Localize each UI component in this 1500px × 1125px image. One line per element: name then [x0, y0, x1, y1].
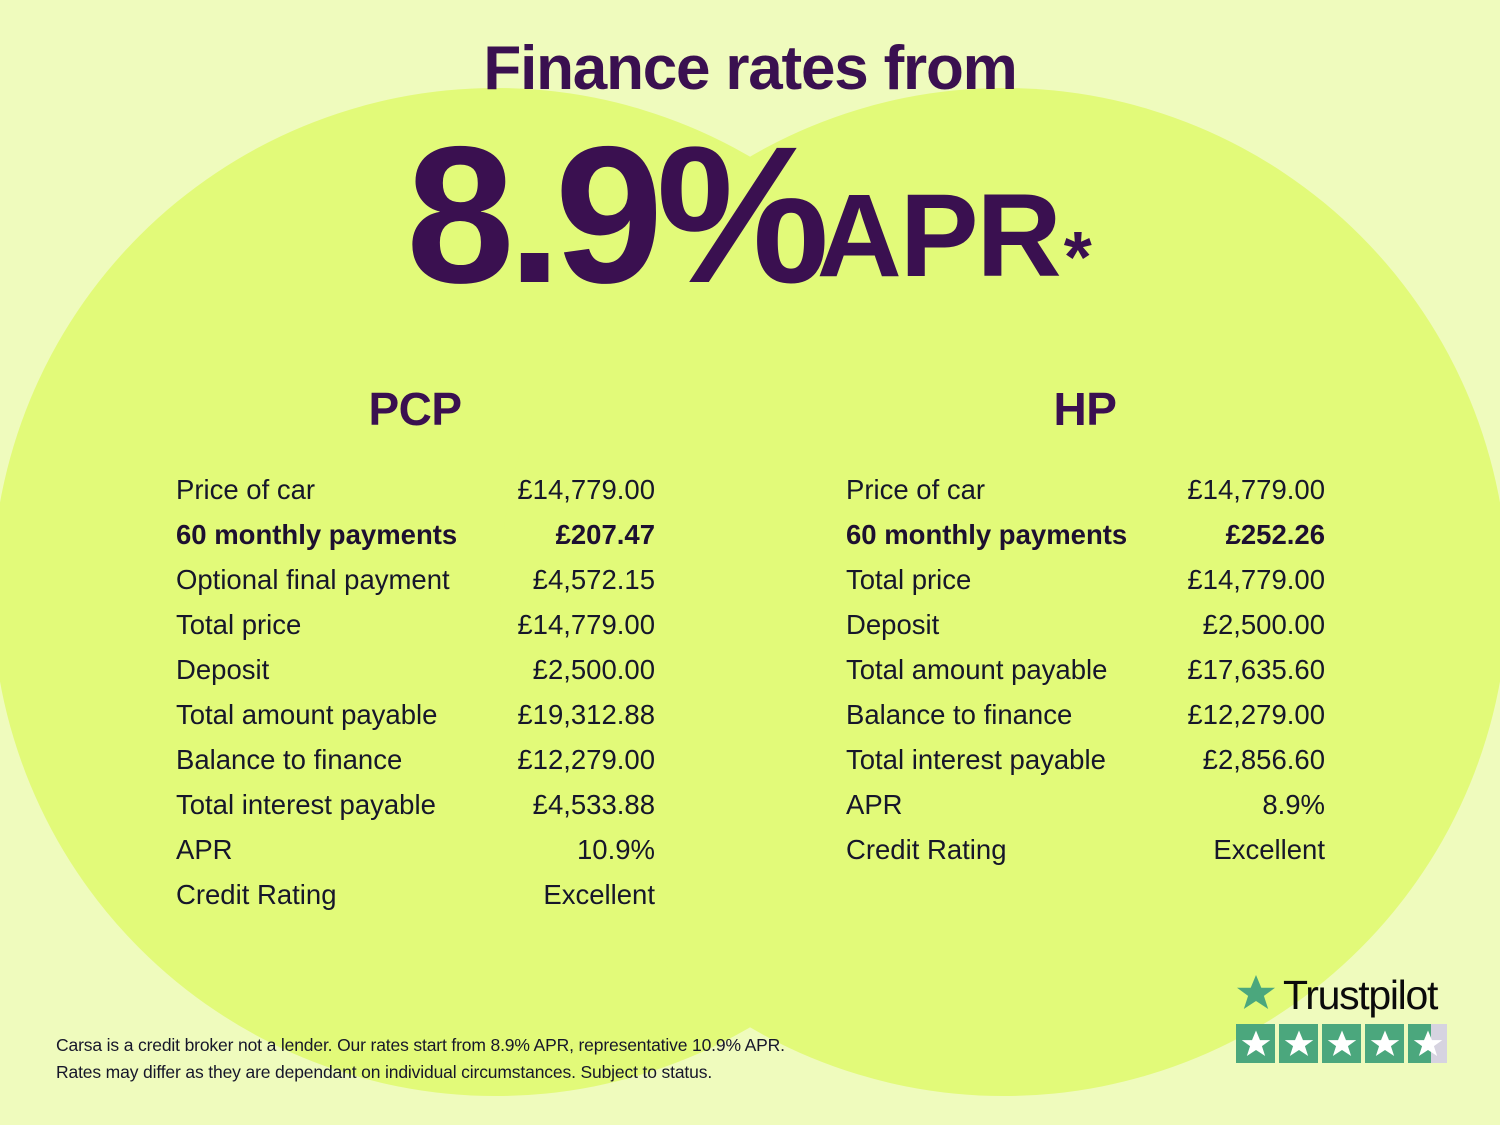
- hero-rate-block: 8.9%APR*: [0, 118, 1500, 313]
- row-label: Deposit: [846, 611, 939, 639]
- trustpilot-star-box: [1322, 1024, 1361, 1063]
- disclaimer-line-1: Carsa is a credit broker not a lender. O…: [56, 1032, 785, 1059]
- hero-apr-label: APR: [817, 170, 1060, 302]
- row-value: £2,500.00: [1203, 611, 1325, 639]
- row-label: Balance to finance: [176, 746, 402, 774]
- row-label: Price of car: [176, 476, 315, 504]
- row-label: Total interest payable: [176, 791, 436, 819]
- row-label: Deposit: [176, 656, 269, 684]
- row-value: 8.9%: [1262, 791, 1325, 819]
- table-row: Total amount payable£17,635.60: [829, 656, 1341, 701]
- row-value: £14,779.00: [517, 611, 655, 639]
- table-row: 60 monthly payments£252.26: [829, 521, 1341, 566]
- row-label: Balance to finance: [846, 701, 1072, 729]
- star-icon: [1370, 1029, 1400, 1058]
- row-label: 60 monthly payments: [176, 521, 457, 549]
- star-icon: [1327, 1029, 1357, 1058]
- trustpilot-rating-stars: [1236, 1024, 1452, 1063]
- row-value: £17,635.60: [1187, 656, 1325, 684]
- table-row: APR8.9%: [829, 791, 1341, 836]
- plan-title: PCP: [159, 386, 671, 432]
- row-label: APR: [176, 836, 233, 864]
- table-row: Deposit£2,500.00: [159, 656, 671, 701]
- plan-rows: Price of car£14,779.0060 monthly payment…: [159, 476, 671, 926]
- trustpilot-logo[interactable]: Trustpilot: [1236, 972, 1452, 1063]
- row-value: £14,779.00: [517, 476, 655, 504]
- table-row: Price of car£14,779.00: [829, 476, 1341, 521]
- trustpilot-star-box: [1279, 1024, 1318, 1063]
- plan-title: HP: [829, 386, 1341, 432]
- table-row: Deposit£2,500.00: [829, 611, 1341, 656]
- page-title: Finance rates from: [0, 38, 1500, 100]
- row-label: Total interest payable: [846, 746, 1106, 774]
- row-label: 60 monthly payments: [846, 521, 1127, 549]
- row-label: APR: [846, 791, 903, 819]
- table-row: APR10.9%: [159, 836, 671, 881]
- row-label: Total amount payable: [176, 701, 437, 729]
- row-value: £2,500.00: [533, 656, 655, 684]
- finance-plan-columns: PCPPrice of car£14,779.0060 monthly paym…: [0, 386, 1500, 926]
- row-value: £252.26: [1226, 521, 1325, 549]
- row-label: Credit Rating: [176, 881, 337, 909]
- table-row: Price of car£14,779.00: [159, 476, 671, 521]
- table-row: Total interest payable£4,533.88: [159, 791, 671, 836]
- star-icon: [1284, 1029, 1314, 1058]
- row-label: Credit Rating: [846, 836, 1007, 864]
- row-value: £4,533.88: [533, 791, 655, 819]
- row-label: Total amount payable: [846, 656, 1107, 684]
- row-value: Excellent: [1213, 836, 1325, 864]
- table-row: Balance to finance£12,279.00: [159, 746, 671, 791]
- row-label: Optional final payment: [176, 566, 450, 594]
- row-label: Total price: [176, 611, 301, 639]
- row-value: Excellent: [543, 881, 655, 909]
- plan-column-pcp: PCPPrice of car£14,779.0060 monthly paym…: [159, 386, 671, 926]
- row-value: 10.9%: [577, 836, 655, 864]
- row-value: £14,779.00: [1187, 476, 1325, 504]
- disclaimer-line-2: Rates may differ as they are dependant o…: [56, 1059, 785, 1086]
- table-row: Credit RatingExcellent: [829, 836, 1341, 881]
- row-value: £12,279.00: [1187, 701, 1325, 729]
- disclaimer-text: Carsa is a credit broker not a lender. O…: [56, 1032, 785, 1086]
- row-value: £12,279.00: [517, 746, 655, 774]
- table-row: Optional final payment£4,572.15: [159, 566, 671, 611]
- table-row: Total amount payable£19,312.88: [159, 701, 671, 746]
- plan-rows: Price of car£14,779.0060 monthly payment…: [829, 476, 1341, 881]
- row-value: £19,312.88: [517, 701, 655, 729]
- row-value: £2,856.60: [1203, 746, 1325, 774]
- trustpilot-name: Trustpilot: [1283, 975, 1437, 1016]
- hero-asterisk: *: [1064, 218, 1092, 298]
- trustpilot-wordmark: Trustpilot: [1236, 972, 1452, 1018]
- row-value: £14,779.00: [1187, 566, 1325, 594]
- table-row: Total price£14,779.00: [159, 611, 671, 656]
- table-row: Total price£14,779.00: [829, 566, 1341, 611]
- table-row: Balance to finance£12,279.00: [829, 701, 1341, 746]
- trustpilot-star-box: [1236, 1024, 1275, 1063]
- row-value: £4,572.15: [533, 566, 655, 594]
- table-row: Credit RatingExcellent: [159, 881, 671, 926]
- star-icon: [1413, 1029, 1443, 1058]
- star-icon: [1241, 1029, 1271, 1058]
- hero-rate-value: 8.9%: [406, 106, 822, 324]
- finance-rates-graphic: Finance rates from 8.9%APR* PCPPrice of …: [0, 0, 1500, 1125]
- trustpilot-star-box: [1365, 1024, 1404, 1063]
- row-label: Price of car: [846, 476, 985, 504]
- row-label: Total price: [846, 566, 971, 594]
- trustpilot-star-icon: [1236, 974, 1276, 1017]
- row-value: £207.47: [556, 521, 655, 549]
- plan-column-hp: HPPrice of car£14,779.0060 monthly payme…: [829, 386, 1341, 926]
- table-row: Total interest payable£2,856.60: [829, 746, 1341, 791]
- trustpilot-star-box: [1408, 1024, 1447, 1063]
- table-row: 60 monthly payments£207.47: [159, 521, 671, 566]
